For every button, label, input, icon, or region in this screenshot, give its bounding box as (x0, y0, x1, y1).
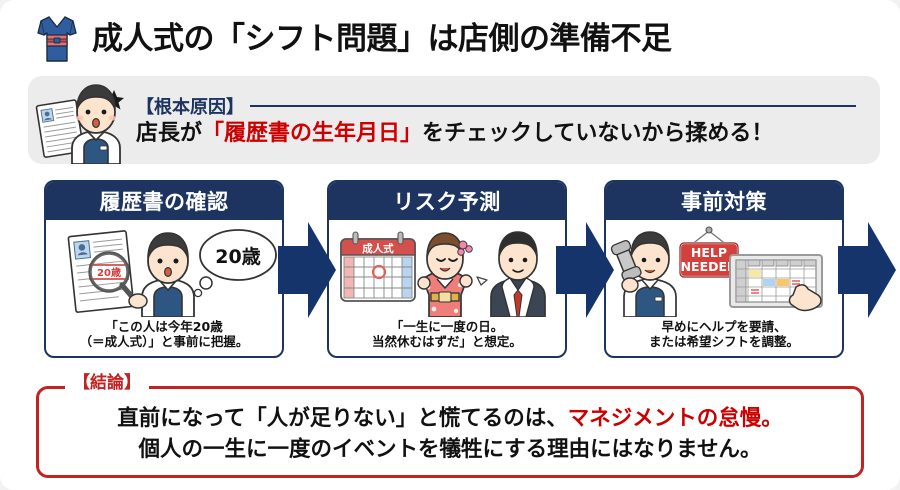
root-cause-sentence-highlight: 「履歴書の生年月日」 (202, 121, 422, 146)
conclusion-line-2: 個人の一生に一度のイベントを犠牲にする理由にはなりません。 (39, 434, 861, 465)
page-title: 成人式の「シフト問題」は店側の準備不足 (92, 24, 672, 55)
step-card-advance-measures[interactable]: 事前対策 (604, 180, 844, 358)
step-card-caption: 「一生に一度の日。 当然休むはずだ」と想定。 (329, 319, 565, 356)
arrow-step3-onward (838, 216, 896, 324)
root-cause-text-block: 【根本原因】 店長が「履歴書の生年月日」をチェックしていないから揉める！ (136, 93, 880, 146)
calendar-month-label: 成人式 (362, 242, 394, 255)
root-cause-label: 【根本原因】 (136, 93, 244, 119)
step-card-risk-forecast[interactable]: リスク予測 成人式 (327, 180, 567, 358)
help-needed-sign-line1: HELP (691, 245, 727, 260)
manager-on-phone-with-help-needed-sign-and-shift-board-icon: HELP NEEDED (606, 220, 842, 319)
conclusion-label: 【結論】 (65, 375, 149, 392)
conclusion-line-1-highlight: マネジメントの怠慢。 (568, 406, 783, 431)
step-card-caption: 「この人は今年20歳 （＝成人式）」と事前に把握。 (46, 319, 282, 356)
process-steps: 履歴書の確認 (0, 180, 900, 362)
root-cause-label-row: 【根本原因】 (136, 93, 864, 119)
conclusion-line-1-before: 直前になって「人が足りない」と慌てるのは、 (117, 406, 567, 431)
step-card-heading: リスク予測 (329, 182, 565, 220)
step-card-caption: 早めにヘルプを要請、 または希望シフトを調整。 (606, 319, 842, 356)
kimono-icon (36, 13, 78, 65)
root-cause-sentence-after: をチェックしていないから揉める！ (422, 121, 773, 146)
conclusion-box: 【結論】 直前になって「人が足りない」と慌てるのは、マネジメントの怠慢。 個人の… (36, 386, 864, 478)
arrow-step1-to-step2 (278, 216, 336, 324)
root-cause-sentence-before: 店長が (136, 121, 202, 146)
calendar-with-kimono-girl-and-suited-man-icon: 成人式 (329, 220, 565, 319)
step-card-heading: 履歴書の確認 (46, 182, 282, 220)
root-cause-divider (250, 105, 856, 107)
help-needed-sign-line2: NEEDED (681, 259, 738, 274)
arrow-step2-to-step3 (556, 216, 614, 324)
surprised-manager-with-resume-icon (28, 76, 136, 164)
step-card-heading: 事前対策 (606, 182, 842, 220)
step-card-resume-check[interactable]: 履歴書の確認 (44, 180, 284, 358)
person-inspecting-resume-with-magnifier-icon: 20歳 (46, 220, 282, 319)
conclusion-text-block: 直前になって「人が足りない」と慌てるのは、マネジメントの怠慢。 個人の一生に一度… (39, 389, 861, 465)
root-cause-banner: 【根本原因】 店長が「履歴書の生年月日」をチェックしていないから揉める！ (28, 76, 880, 164)
infographic-page: 成人式の「シフト問題」は店側の準備不足 (0, 0, 900, 490)
thought-bubble-age-label: 20歳 (215, 246, 260, 268)
page-title-row: 成人式の「シフト問題」は店側の準備不足 (36, 8, 876, 70)
conclusion-line-1: 直前になって「人が足りない」と慌てるのは、マネジメントの怠慢。 (39, 403, 861, 434)
root-cause-sentence: 店長が「履歴書の生年月日」をチェックしていないから揉める！ (136, 121, 864, 146)
